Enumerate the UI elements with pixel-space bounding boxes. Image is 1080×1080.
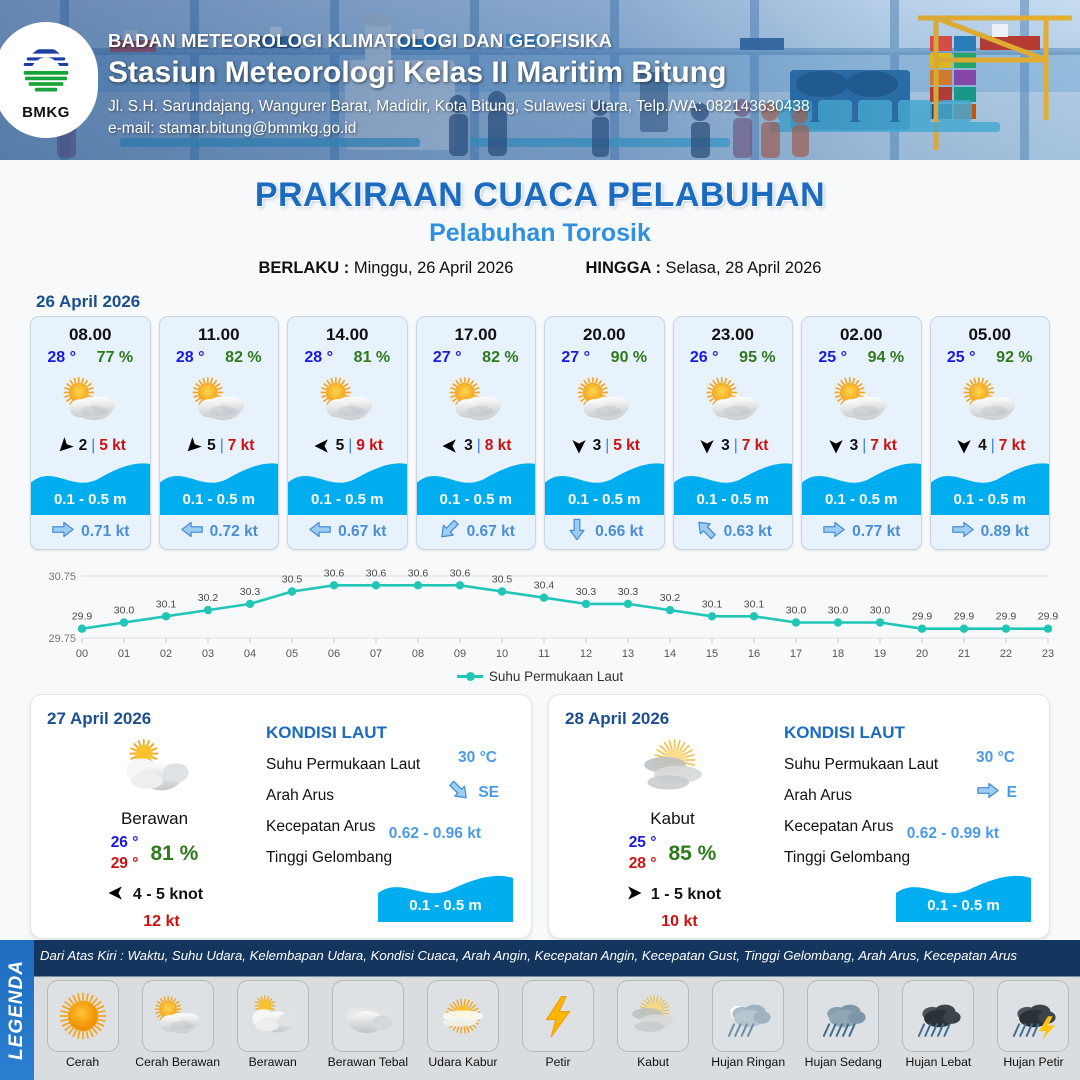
berlaku-group: BERLAKU : Minggu, 26 April 2026: [259, 259, 514, 278]
svg-text:21: 21: [958, 648, 970, 660]
svg-text:17: 17: [790, 648, 802, 660]
sst-value: 30 °C: [458, 749, 497, 767]
thunderstorm-icon: [997, 980, 1069, 1052]
svg-text:30.6: 30.6: [366, 567, 387, 579]
sst-chart-svg: 30.7529.75000102030405060708091011121314…: [20, 558, 1060, 673]
partly-cloudy-icon: [674, 369, 793, 431]
cloudy-icon: [237, 980, 309, 1052]
forecast-card: 20.00 27 ° 90 % 3 | 5 kt: [544, 316, 665, 550]
wave-height-band: 0.1 - 0.5 m: [288, 459, 407, 515]
wind-direction-arrow-icon: [624, 883, 644, 908]
wind-direction-arrow-icon: [697, 436, 717, 456]
wind-gust: 5 kt: [99, 437, 126, 455]
forecast-temp-hum-row: 28 ° 77 %: [31, 345, 150, 367]
legend-item: Cerah: [38, 980, 127, 1069]
legend-item: Hujan Ringan: [704, 980, 793, 1069]
header-text-block: BADAN METEOROLOGI KLIMATOLOGI DAN GEOFIS…: [108, 30, 810, 138]
wind-speed: 2: [79, 437, 88, 455]
partly-cloudy-icon: [142, 980, 214, 1052]
legend-item: Berawan: [228, 980, 317, 1069]
legend-item-label: Hujan Ringan: [704, 1055, 793, 1069]
wind-gust: 5 kt: [613, 437, 640, 455]
current-direction-arrow-icon: [437, 520, 461, 544]
legend-item-label: Udara Kabur: [418, 1055, 507, 1069]
bmkg-logo: BMKG: [0, 22, 98, 138]
sunny-icon: [47, 980, 119, 1052]
daily-temp-max: 28 °: [629, 854, 657, 875]
daily-wave-band: 0.1 - 0.5 m: [378, 872, 513, 922]
wind-gust: 7 kt: [742, 437, 769, 455]
legenda-sidebar-label: LEGENDA: [6, 960, 28, 1060]
partly-cloudy-icon: [417, 369, 536, 431]
svg-text:09: 09: [454, 648, 466, 660]
partly-cloudy-icon: [545, 369, 664, 431]
wave-height-value: 0.1 - 0.5 m: [545, 491, 664, 508]
daily-wind-speed: 1 - 5 knot: [651, 886, 721, 904]
daily-forecast-row: 27 April 2026 Berawan 26 ° 29 ° 81 % 4 -…: [0, 684, 1080, 939]
wave-height-band: 0.1 - 0.5 m: [160, 459, 279, 515]
chart-legend-swatch: [457, 675, 483, 678]
svg-text:29.9: 29.9: [996, 611, 1017, 623]
svg-text:01: 01: [118, 648, 130, 660]
forecast-temp-hum-row: 28 ° 82 %: [160, 345, 279, 367]
svg-text:10: 10: [496, 648, 508, 660]
daily-wave-value: 0.1 - 0.5 m: [896, 897, 1031, 914]
current-speed: 0.72 kt: [210, 523, 258, 541]
forecast-temperature: 28 °: [176, 349, 205, 367]
station-address: Jl. S.H. Sarundajang, Wangurer Barat, Ma…: [108, 98, 810, 116]
svg-text:30.5: 30.5: [492, 574, 513, 586]
overcast-icon: [332, 980, 404, 1052]
svg-text:05: 05: [286, 648, 298, 660]
forecast-card: 23.00 26 ° 95 % 3 | 7 kt: [673, 316, 794, 550]
sea-conditions-title: KONDISI LAUT: [266, 723, 515, 743]
daily-wind-speed: 4 - 5 knot: [133, 886, 203, 904]
svg-text:19: 19: [874, 648, 886, 660]
forecast-temp-hum-row: 25 ° 94 %: [802, 345, 921, 367]
wind-separator: |: [734, 437, 738, 455]
svg-text:04: 04: [244, 648, 256, 660]
forecast-humidity: 82 %: [482, 349, 518, 367]
svg-text:29.9: 29.9: [954, 611, 975, 623]
forecast-card: 11.00 28 ° 82 % 5 | 7 kt: [159, 316, 280, 550]
forecast-temperature: 26 °: [690, 349, 719, 367]
wave-height-band: 0.1 - 0.5 m: [674, 459, 793, 515]
svg-text:30.3: 30.3: [576, 586, 597, 598]
daily-left-column: 28 April 2026 Kabut 25 ° 28 ° 85 % 1 - 5…: [565, 709, 780, 924]
forecast-wind-row: 4 | 7 kt: [931, 431, 1050, 461]
forecast-wind-row: 3 | 5 kt: [545, 431, 664, 461]
forecast-temp-hum-row: 28 ° 81 %: [288, 345, 407, 367]
wind-direction-arrow-icon: [569, 436, 589, 456]
svg-text:30.0: 30.0: [786, 605, 807, 617]
svg-text:18: 18: [832, 648, 844, 660]
svg-text:30.3: 30.3: [618, 586, 639, 598]
berlaku-label: BERLAKU :: [259, 259, 350, 277]
current-direction-value-group: E: [976, 781, 1017, 805]
current-speed: 0.67 kt: [338, 523, 386, 541]
svg-text:08: 08: [412, 648, 424, 660]
sea-conditions-title: KONDISI LAUT: [784, 723, 1033, 743]
legend-item: Kabut: [609, 980, 698, 1069]
moderate-rain-icon: [807, 980, 879, 1052]
forecast-date-label: 26 April 2026: [36, 292, 1080, 312]
svg-text:14: 14: [664, 648, 676, 660]
wind-speed: 4: [978, 437, 987, 455]
forecast-humidity: 81 %: [354, 349, 390, 367]
bmkg-logo-text: BMKG: [22, 104, 70, 121]
current-speed: 0.89 kt: [981, 523, 1029, 541]
current-direction-arrow-icon: [976, 781, 1000, 805]
wind-separator: |: [862, 437, 866, 455]
wind-separator: |: [348, 437, 352, 455]
daily-wind-row: 4 - 5 knot: [47, 883, 262, 908]
hourly-forecast-row: 08.00 28 ° 77 % 2 | 5 kt: [0, 316, 1080, 550]
wind-direction-arrow-icon: [954, 436, 974, 456]
daily-wind-gust: 10 kt: [565, 913, 780, 931]
forecast-current-row: 0.66 kt: [545, 515, 664, 549]
page-title: PRAKIRAAN CUACA PELABUHAN: [0, 176, 1080, 215]
forecast-temp-hum-row: 27 ° 82 %: [417, 345, 536, 367]
current-speed-value: 0.62 - 0.96 kt: [389, 825, 481, 843]
daily-humidity: 81 %: [150, 842, 198, 866]
svg-text:11: 11: [538, 648, 549, 660]
legend-item-label: Hujan Petir: [989, 1055, 1078, 1069]
wind-separator: |: [220, 437, 224, 455]
legend-item-label: Hujan Lebat: [894, 1055, 983, 1069]
current-speed: 0.66 kt: [595, 523, 643, 541]
wind-gust: 8 kt: [485, 437, 512, 455]
daily-condition: Kabut: [565, 809, 780, 829]
forecast-card: 05.00 25 ° 92 % 4 | 7 kt: [930, 316, 1051, 550]
partly-cloudy-icon: [160, 369, 279, 431]
current-direction-arrow-icon: [694, 520, 718, 544]
wind-speed: 3: [721, 437, 730, 455]
svg-text:30.6: 30.6: [450, 567, 471, 579]
daily-wind-row: 1 - 5 knot: [565, 883, 780, 908]
daily-date: 27 April 2026: [47, 709, 262, 729]
wave-height-value: 0.1 - 0.5 m: [674, 491, 793, 508]
station-name: Stasiun Meteorologi Kelas II Maritim Bit…: [108, 56, 810, 90]
daily-wave-band: 0.1 - 0.5 m: [896, 872, 1031, 922]
forecast-time: 05.00: [931, 317, 1050, 345]
svg-text:30.1: 30.1: [702, 598, 723, 610]
daily-temp-hum-row: 26 ° 29 ° 81 %: [47, 833, 262, 875]
legend-item-label: Kabut: [609, 1055, 698, 1069]
forecast-current-row: 0.67 kt: [417, 515, 536, 549]
forecast-temperature: 28 °: [47, 349, 76, 367]
wave-height-value: 0.1 - 0.5 m: [931, 491, 1050, 508]
forecast-time: 11.00: [160, 317, 279, 345]
fog-icon: [617, 980, 689, 1052]
partly-cloudy-icon: [31, 369, 150, 431]
station-email: e-mail: stamar.bitung@bmmkg.go.id: [108, 120, 810, 138]
forecast-wind-row: 3 | 7 kt: [802, 431, 921, 461]
partly-cloudy-icon: [288, 369, 407, 431]
wave-height-band: 0.1 - 0.5 m: [31, 459, 150, 515]
svg-text:13: 13: [622, 648, 634, 660]
wind-direction-arrow-icon: [312, 436, 332, 456]
svg-text:29.9: 29.9: [72, 611, 93, 623]
daily-temp-min: 26 °: [111, 833, 139, 854]
current-direction-arrow-icon: [51, 520, 75, 544]
wave-height-value: 0.1 - 0.5 m: [31, 491, 150, 508]
wind-separator: |: [91, 437, 95, 455]
forecast-temperature: 25 °: [947, 349, 976, 367]
legenda-sidebar: LEGENDA: [0, 940, 34, 1080]
daily-temp-min: 25 °: [629, 833, 657, 854]
current-direction-value: E: [1007, 784, 1017, 802]
svg-text:00: 00: [76, 648, 88, 660]
wave-height-value: 0.1 - 0.5 m: [417, 491, 536, 508]
svg-text:30.6: 30.6: [408, 567, 429, 579]
current-direction-value-group: SE: [447, 781, 499, 805]
haze-icon: [427, 980, 499, 1052]
daily-temp-column: 26 ° 29 °: [111, 833, 139, 875]
wind-direction-arrow-icon: [826, 436, 846, 456]
legend-caption: Dari Atas Kiri : Waktu, Suhu Udara, Kele…: [40, 948, 1076, 963]
bmkg-logo-icon: [15, 40, 77, 102]
forecast-time: 23.00: [674, 317, 793, 345]
daily-forecast-panel: 28 April 2026 Kabut 25 ° 28 ° 85 % 1 - 5…: [548, 694, 1050, 939]
daily-temp-column: 25 ° 28 °: [629, 833, 657, 875]
daily-date: 28 April 2026: [565, 709, 780, 729]
forecast-humidity: 77 %: [97, 349, 133, 367]
svg-text:16: 16: [748, 648, 760, 660]
sea-conditions-column: KONDISI LAUT Suhu Permukaan Laut Arah Ar…: [780, 709, 1033, 924]
page-header: BMKG BADAN METEOROLOGI KLIMATOLOGI DAN G…: [0, 0, 1080, 160]
svg-text:30.3: 30.3: [240, 586, 261, 598]
svg-text:30.0: 30.0: [828, 605, 849, 617]
wave-height-band: 0.1 - 0.5 m: [417, 459, 536, 515]
current-direction-value: SE: [478, 784, 499, 802]
wind-speed: 3: [850, 437, 859, 455]
sst-chart: 30.7529.75000102030405060708091011121314…: [20, 558, 1060, 673]
forecast-wind-row: 3 | 7 kt: [674, 431, 793, 461]
forecast-time: 02.00: [802, 317, 921, 345]
daily-temp-hum-row: 25 ° 28 ° 85 %: [565, 833, 780, 875]
wave-height-band: 0.1 - 0.5 m: [802, 459, 921, 515]
forecast-time: 08.00: [31, 317, 150, 345]
wind-gust: 9 kt: [356, 437, 383, 455]
wind-direction-arrow-icon: [183, 436, 203, 456]
forecast-current-row: 0.67 kt: [288, 515, 407, 549]
legend-item-label: Hujan Sedang: [799, 1055, 888, 1069]
forecast-card: 08.00 28 ° 77 % 2 | 5 kt: [30, 316, 151, 550]
light-rain-icon: [712, 980, 784, 1052]
agency-name: BADAN METEOROLOGI KLIMATOLOGI DAN GEOFIS…: [108, 30, 810, 52]
svg-text:23: 23: [1042, 648, 1054, 660]
forecast-current-row: 0.89 kt: [931, 515, 1050, 549]
forecast-humidity: 92 %: [996, 349, 1032, 367]
wind-separator: |: [605, 437, 609, 455]
svg-text:15: 15: [706, 648, 718, 660]
current-direction-arrow-icon: [565, 520, 589, 544]
svg-text:29.9: 29.9: [912, 611, 933, 623]
wave-height-label: Tinggi Gelombang: [784, 849, 1033, 867]
current-direction-arrow-icon: [951, 520, 975, 544]
wind-speed: 3: [593, 437, 602, 455]
svg-text:30.6: 30.6: [324, 567, 345, 579]
svg-text:30.2: 30.2: [660, 592, 681, 604]
heavy-rain-icon: [902, 980, 974, 1052]
legend-item: Udara Kabur: [418, 980, 507, 1069]
forecast-temperature: 27 °: [561, 349, 590, 367]
wave-height-label: Tinggi Gelombang: [266, 849, 515, 867]
wind-gust: 7 kt: [870, 437, 897, 455]
forecast-wind-row: 5 | 9 kt: [288, 431, 407, 461]
current-speed: 0.63 kt: [724, 523, 772, 541]
svg-text:30.2: 30.2: [198, 592, 219, 604]
svg-text:30.0: 30.0: [114, 605, 135, 617]
legend-item-label: Cerah: [38, 1055, 127, 1069]
wave-height-band: 0.1 - 0.5 m: [545, 459, 664, 515]
legend-item: Hujan Sedang: [799, 980, 888, 1069]
forecast-temperature: 28 °: [304, 349, 333, 367]
daily-wave-value: 0.1 - 0.5 m: [378, 897, 513, 914]
cloudy-icon: [47, 733, 262, 803]
partly-cloudy-icon: [802, 369, 921, 431]
forecast-wind-row: 2 | 5 kt: [31, 431, 150, 461]
wave-height-band: 0.1 - 0.5 m: [931, 459, 1050, 515]
forecast-wind-row: 3 | 8 kt: [417, 431, 536, 461]
daily-left-column: 27 April 2026 Berawan 26 ° 29 ° 81 % 4 -…: [47, 709, 262, 924]
svg-text:12: 12: [580, 648, 592, 660]
svg-text:29.9: 29.9: [1038, 611, 1059, 623]
legend-item: Hujan Lebat: [894, 980, 983, 1069]
wave-height-value: 0.1 - 0.5 m: [288, 491, 407, 508]
current-speed-value: 0.62 - 0.99 kt: [907, 825, 999, 843]
sst-value: 30 °C: [976, 749, 1015, 767]
svg-text:02: 02: [160, 648, 172, 660]
current-direction-arrow-icon: [822, 520, 846, 544]
forecast-current-row: 0.63 kt: [674, 515, 793, 549]
svg-text:06: 06: [328, 648, 340, 660]
wind-gust: 7 kt: [999, 437, 1026, 455]
hingga-label: HINGGA :: [585, 259, 660, 277]
forecast-current-row: 0.77 kt: [802, 515, 921, 549]
daily-temp-max: 29 °: [111, 854, 139, 875]
forecast-temp-hum-row: 27 ° 90 %: [545, 345, 664, 367]
current-speed: 0.67 kt: [467, 523, 515, 541]
legend-band: LEGENDA Dari Atas Kiri : Waktu, Suhu Uda…: [0, 940, 1080, 1080]
wind-speed: 5: [207, 437, 216, 455]
hingga-group: HINGGA : Selasa, 28 April 2026: [585, 259, 821, 278]
wave-height-value: 0.1 - 0.5 m: [160, 491, 279, 508]
daily-humidity: 85 %: [668, 842, 716, 866]
forecast-current-row: 0.72 kt: [160, 515, 279, 549]
page-subtitle: Pelabuhan Torosik: [0, 219, 1080, 248]
legend-item-label: Berawan: [228, 1055, 317, 1069]
forecast-temperature: 25 °: [818, 349, 847, 367]
forecast-humidity: 94 %: [868, 349, 904, 367]
partly-cloudy-icon: [931, 369, 1050, 431]
current-direction-arrow-icon: [447, 781, 471, 805]
svg-text:30.1: 30.1: [744, 598, 765, 610]
forecast-humidity: 90 %: [611, 349, 647, 367]
forecast-time: 20.00: [545, 317, 664, 345]
wind-direction-arrow-icon: [106, 883, 126, 908]
daily-forecast-panel: 27 April 2026 Berawan 26 ° 29 ° 81 % 4 -…: [30, 694, 532, 939]
wind-speed: 3: [464, 437, 473, 455]
legend-item: Hujan Petir: [989, 980, 1078, 1069]
wind-direction-arrow-icon: [440, 436, 460, 456]
forecast-time: 17.00: [417, 317, 536, 345]
forecast-card: 17.00 27 ° 82 % 3 | 8 kt: [416, 316, 537, 550]
legend-items: Cerah Cerah Berawan Berawan: [38, 980, 1078, 1069]
wind-speed: 5: [336, 437, 345, 455]
legend-item: Berawan Tebal: [323, 980, 412, 1069]
legend-item-label: Petir: [513, 1055, 602, 1069]
svg-text:30.4: 30.4: [534, 580, 555, 592]
svg-text:30.1: 30.1: [156, 598, 177, 610]
daily-wind-gust: 12 kt: [47, 913, 262, 931]
svg-text:03: 03: [202, 648, 214, 660]
forecast-card: 02.00 25 ° 94 % 3 | 7 kt: [801, 316, 922, 550]
sea-conditions-column: KONDISI LAUT Suhu Permukaan Laut Arah Ar…: [262, 709, 515, 924]
wave-height-value: 0.1 - 0.5 m: [802, 491, 921, 508]
fog-icon: [565, 733, 780, 803]
svg-text:22: 22: [1000, 648, 1012, 660]
forecast-time: 14.00: [288, 317, 407, 345]
legend-item-label: Berawan Tebal: [323, 1055, 412, 1069]
forecast-humidity: 82 %: [225, 349, 261, 367]
svg-text:29.75: 29.75: [48, 633, 76, 645]
daily-condition: Berawan: [47, 809, 262, 829]
svg-text:30.75: 30.75: [48, 571, 76, 583]
forecast-temperature: 27 °: [433, 349, 462, 367]
forecast-temp-hum-row: 25 ° 92 %: [931, 345, 1050, 367]
validity-row: BERLAKU : Minggu, 26 April 2026 HINGGA :…: [0, 259, 1080, 278]
svg-text:07: 07: [370, 648, 382, 660]
svg-text:20: 20: [916, 648, 928, 660]
forecast-temp-hum-row: 26 ° 95 %: [674, 345, 793, 367]
wind-separator: |: [477, 437, 481, 455]
current-direction-arrow-icon: [308, 520, 332, 544]
wind-gust: 7 kt: [228, 437, 255, 455]
wind-separator: |: [991, 437, 995, 455]
hingga-value: Selasa, 28 April 2026: [666, 259, 822, 277]
svg-text:30.0: 30.0: [870, 605, 891, 617]
berlaku-value: Minggu, 26 April 2026: [354, 259, 514, 277]
current-speed: 0.71 kt: [81, 523, 129, 541]
legend-item: Petir: [513, 980, 602, 1069]
forecast-wind-row: 5 | 7 kt: [160, 431, 279, 461]
svg-text:30.5: 30.5: [282, 574, 303, 586]
lightning-icon: [522, 980, 594, 1052]
wind-direction-arrow-icon: [55, 436, 75, 456]
forecast-card: 14.00 28 ° 81 % 5 | 9 kt: [287, 316, 408, 550]
current-direction-arrow-icon: [180, 520, 204, 544]
current-speed: 0.77 kt: [852, 523, 900, 541]
forecast-current-row: 0.71 kt: [31, 515, 150, 549]
forecast-humidity: 95 %: [739, 349, 775, 367]
legend-item-label: Cerah Berawan: [133, 1055, 222, 1069]
legend-item: Cerah Berawan: [133, 980, 222, 1069]
